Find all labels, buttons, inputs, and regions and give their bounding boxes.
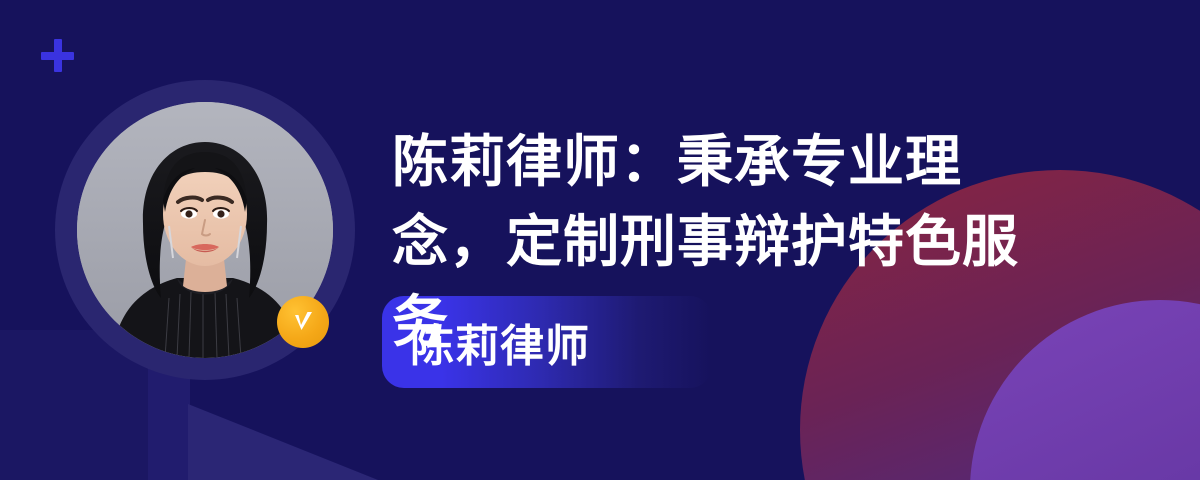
avatar [55,80,355,380]
headline-line-1: 陈莉律师：秉承专业理 [392,123,1092,203]
headline-line-3: 务 [392,283,449,363]
headline-line-2: 念，定制刑事辩护特色服 [392,203,1092,283]
page-title: 陈莉律师：秉承专业理 念，定制刑事辩护特色服 [392,123,1092,283]
decor-circle-inner [970,300,1200,480]
promo-banner: 陈莉律师：秉承专业理 念，定制刑事辩护特色服 陈莉律师 务 [0,0,1200,480]
verified-badge-icon [277,296,329,348]
decor-triangle [188,404,388,480]
plus-icon [41,39,74,72]
